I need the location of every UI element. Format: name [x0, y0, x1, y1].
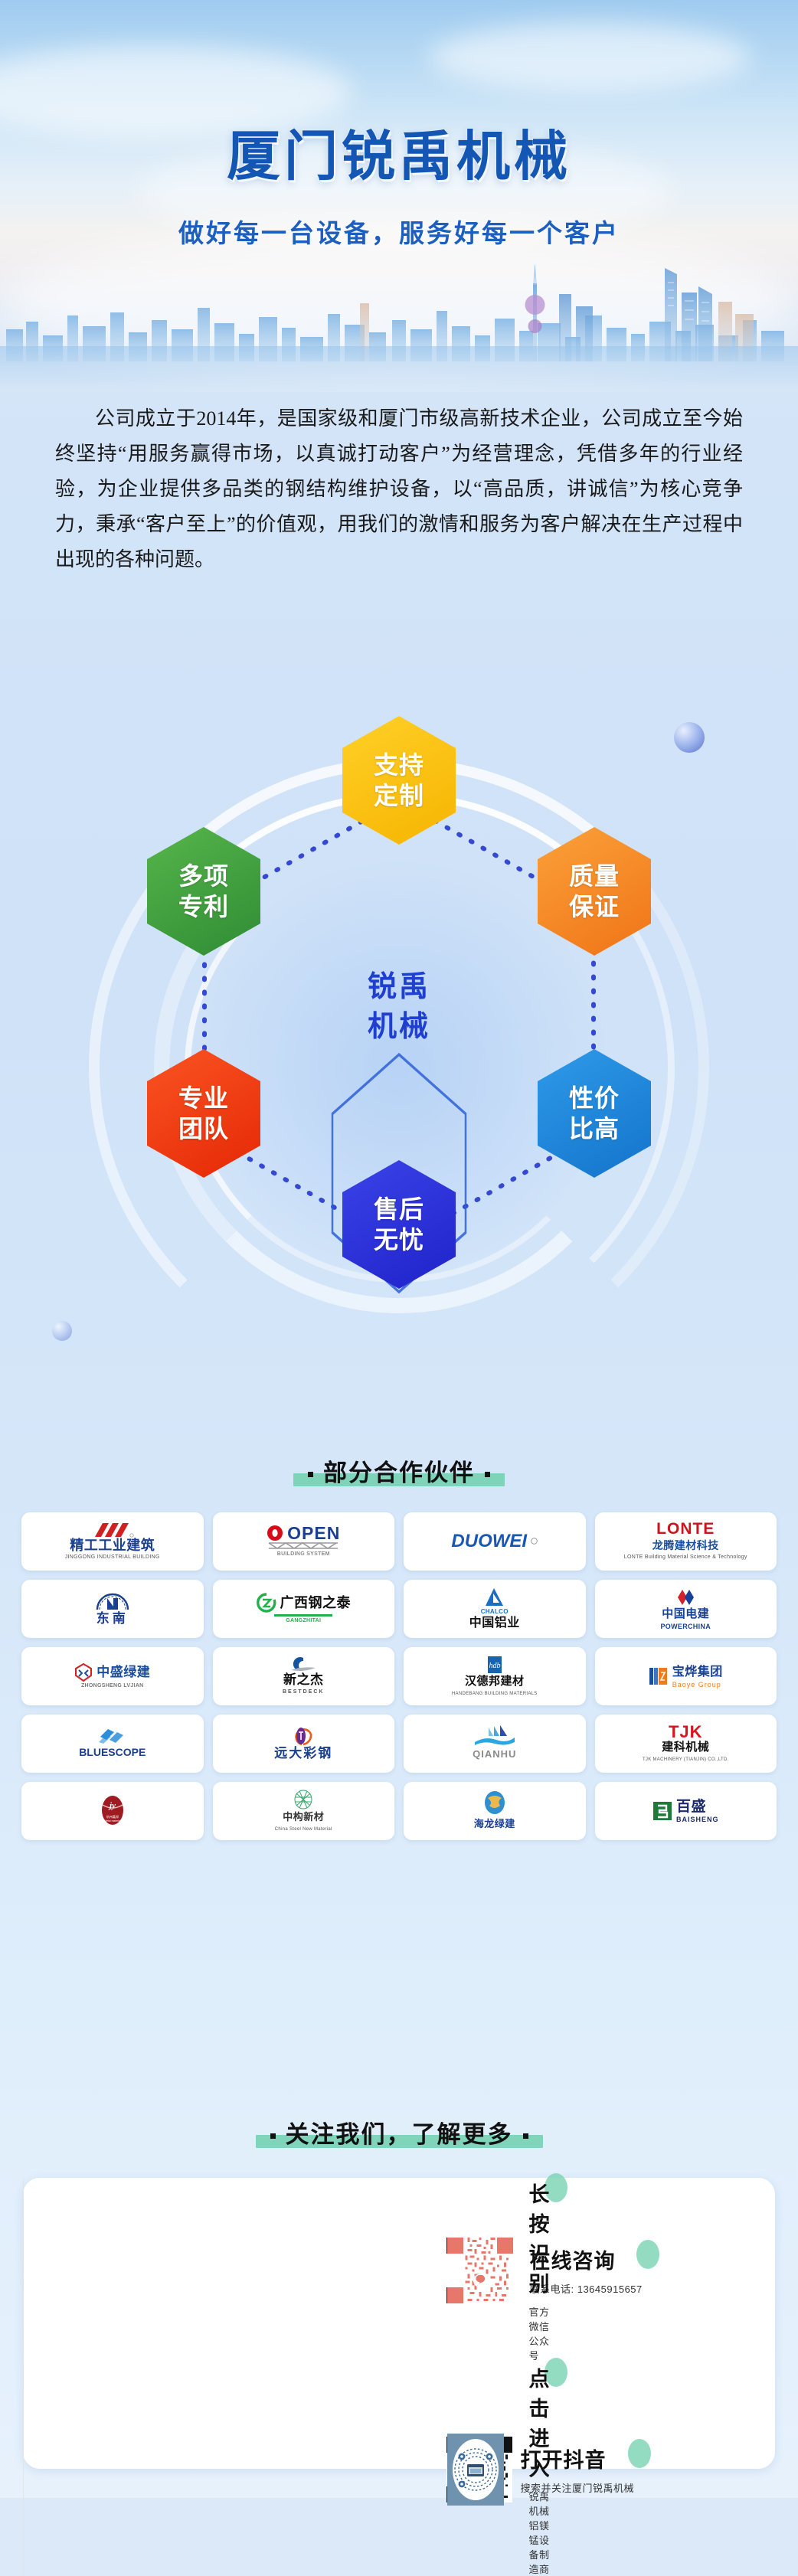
hero-banner: 厦门锐禹机械 做好每一台设备，服务好每一个客户: [0, 0, 798, 392]
partner-logo-name: 百盛: [676, 1800, 719, 1815]
qr-red-icon: [447, 2238, 513, 2303]
hex-node-bottom-right-line1: 性价: [569, 1083, 620, 1113]
partner-logo-cn: 龙腾建材科技: [652, 1538, 719, 1553]
waterfront: [0, 346, 798, 392]
bubble-decoration: [52, 1321, 72, 1341]
partner-logo-card[interactable]: BLUESCOPE: [21, 1715, 204, 1773]
partner-logo-name: LONTE: [656, 1522, 715, 1537]
qr-card-desc: 搜索并关注厦门锐禹机械: [521, 2480, 635, 2495]
heading-dot-right-icon: [485, 1472, 490, 1477]
hexagon-center-line2: 机械: [368, 1007, 430, 1047]
partner-logo-sub: ZHONGSHENG LVJIAN: [81, 1682, 144, 1690]
open-truss-icon: [268, 1541, 338, 1550]
partner-logo-name: 中国铝业: [469, 1616, 520, 1631]
qr-card-douyin[interactable]: 打开抖音 搜索并关注厦门锐禹机械: [400, 2362, 776, 2576]
hexagon-center-label: 锐禹 机械: [322, 938, 476, 1076]
partner-logo-name: 中国电建: [662, 1607, 709, 1622]
hex-node-bottom-right-line2: 比高: [569, 1113, 620, 1144]
partner-logo-name: 海龙绿建: [474, 1816, 515, 1832]
partner-logo-card[interactable]: 百盛 BAISHENG: [595, 1782, 777, 1840]
partner-logo-name: 中构新材: [283, 1809, 324, 1825]
partner-logo-card[interactable]: TJK 建科机械 TJK MACHINERY (TIANJIN) CO.,LTD…: [595, 1715, 777, 1773]
qr-code-image[interactable]: [447, 2238, 513, 2303]
partner-logo-card[interactable]: 远大彩钢: [213, 1715, 395, 1773]
partner-logo-name: 建科机械: [662, 1740, 709, 1755]
svg-text:jy: jy: [108, 1801, 116, 1810]
partner-logo-card[interactable]: 精工工业建筑 JINGGONG INDUSTRIAL BUILDING: [21, 1512, 204, 1571]
partner-logo-name: 广西钢之泰: [280, 1595, 352, 1610]
partner-logo-card[interactable]: 广西钢之泰 GANGZHITAI: [213, 1580, 395, 1638]
registered-mark-icon: [531, 1538, 538, 1545]
vertical-divider: [23, 2178, 24, 2576]
hdb-block-icon: hdb: [487, 1656, 502, 1674]
partner-logo-card[interactable]: hdb 汉德邦建材 HANDEBANG BUILDING MATERIALS: [404, 1647, 586, 1705]
green-underline: [274, 1614, 332, 1617]
partner-logo-name: QIANHU: [473, 1747, 516, 1762]
partner-logo-name: 新之杰: [283, 1672, 324, 1688]
hex-node-top-right-line2: 保证: [569, 891, 620, 922]
partners-section-heading: 部分合作伙伴: [0, 1453, 798, 1488]
partner-logo-name: OPEN: [287, 1525, 340, 1541]
qr-card-title: 在线咨询: [530, 2244, 643, 2274]
partner-logo-name: BLUESCOPE: [79, 1744, 146, 1760]
partner-logo-sub: JINGGONG INDUSTRIAL BUILDING: [65, 1554, 160, 1561]
city-skyline-illustration: [0, 247, 798, 392]
shield-zs-icon: [74, 1663, 93, 1682]
partner-logo-card[interactable]: 新之杰 BESTDECK: [213, 1647, 395, 1705]
partner-logo-sub: POWERCHINA: [661, 1623, 711, 1630]
red-shield-icon: jy 杭州嘉邦 Metal material: [100, 1795, 125, 1827]
qianhu-sail-icon: [473, 1725, 516, 1747]
yuanda-loop-icon: [293, 1726, 314, 1746]
qr-card-desc: 锐禹机械铝镁锰设备制造商: [529, 2489, 551, 2576]
partner-logo-card[interactable]: LONTE 龙腾建材科技 LONTE Building Material Sci…: [595, 1512, 777, 1571]
partner-logo-sub: China Steel New Material: [275, 1826, 332, 1833]
hexagon-center-line1: 锐禹: [368, 967, 430, 1007]
follow-heading-text: 关注我们，了解更多: [286, 2121, 513, 2148]
bridge-arch-icon: [95, 1591, 130, 1611]
qr-card-title: 打开抖音: [521, 2444, 635, 2473]
partner-logo-card[interactable]: OPEN BUILDING SYSTEM: [213, 1512, 395, 1571]
hex-node-bottom-line2: 无忧: [374, 1224, 424, 1255]
company-description: 公司成立于2014年，是国家级和厦门市级高新技术企业，公司成立至今始终坚持“用服…: [0, 401, 798, 577]
page-title: 厦门锐禹机械: [0, 113, 798, 191]
heading-dot-left-icon: [308, 1472, 313, 1477]
qr-card-online-consult[interactable]: 在线咨询 联系电话: 13645915657: [400, 2178, 776, 2362]
partner-logo-name: 东南: [96, 1611, 129, 1626]
partner-logo-sub: BUILDING SYSTEM: [277, 1551, 330, 1558]
partner-logo-name: 精工工业建筑: [70, 1538, 155, 1553]
svg-text:hdb: hdb: [489, 1662, 500, 1670]
cloud-decoration: [429, 23, 751, 92]
partner-logo-card[interactable]: 宝烨集团 Baoye Group: [595, 1647, 777, 1705]
partner-logo-name: 中盛绿建: [96, 1665, 150, 1680]
svg-text:Metal material: Metal material: [104, 1819, 121, 1822]
svg-text:杭州嘉邦: 杭州嘉邦: [106, 1814, 119, 1819]
qr-douyin-icon: [447, 2434, 504, 2506]
partner-logo-name: 宝烨集团: [672, 1665, 723, 1680]
advantages-hexagon-diagram: 支持 定制 质量 保证 性价 比高 售后 无忧 专业 团队 多项 专利 锐禹 机…: [0, 708, 798, 1428]
partner-logo-sub: BESTDECK: [283, 1688, 325, 1696]
hex-node-bottom-line1: 售后: [374, 1194, 424, 1224]
partner-logo-sub: LONTE Building Material Science & Techno…: [624, 1554, 747, 1561]
baoye-bars-icon: [649, 1666, 669, 1686]
hex-node-top-line2: 定制: [374, 780, 424, 811]
partner-logo-card[interactable]: 中盛绿建 ZHONGSHENG LVJIAN: [21, 1647, 204, 1705]
partner-logo-card[interactable]: 中构新材 China Steel New Material: [213, 1782, 395, 1840]
hex-node-top-line1: 支持: [374, 750, 424, 780]
partner-logo-name: 汉德邦建材: [465, 1674, 525, 1689]
partner-logo-mark-text: TJK: [669, 1724, 703, 1740]
mesh-egg-icon: [292, 1790, 315, 1809]
partner-logo-sub: HANDEBANG BUILDING MATERIALS: [452, 1690, 538, 1698]
partner-logo-card[interactable]: QIANHU: [404, 1715, 586, 1773]
follow-qr-panel: RY 长按识别 官方微信公众号: [23, 2178, 775, 2469]
page-root: 厦门锐禹机械 做好每一台设备，服务好每一个客户 公司成立于2014年，是国家级和…: [0, 0, 798, 2498]
partner-logo-card[interactable]: jy 杭州嘉邦 Metal material: [21, 1782, 204, 1840]
page-subtitle: 做好每一台设备，服务好每一个客户: [0, 213, 798, 250]
partner-logo-grid: 精工工业建筑 JINGGONG INDUSTRIAL BUILDING OPEN…: [21, 1512, 777, 1840]
partner-logo-name: DUOWEI: [451, 1534, 527, 1549]
partners-heading-text: 部分合作伙伴: [323, 1460, 475, 1486]
power-diamond-icon: [675, 1588, 696, 1607]
partner-logo-card[interactable]: CHALCO 中国铝业: [404, 1580, 586, 1638]
partner-logo-sub: TJK MACHINERY (TIANJIN) CO.,LTD.: [643, 1756, 729, 1764]
hex-node-top-left-line1: 多项: [178, 861, 229, 891]
green-circle-icon: [257, 1593, 276, 1613]
qr-card-title: 长按识别: [529, 2178, 551, 2297]
hex-node-bottom-left-line2: 团队: [178, 1113, 229, 1144]
slash-bars-icon: [90, 1522, 135, 1538]
partner-logo-sub: CHALCO: [481, 1608, 509, 1616]
follow-section-heading: 关注我们，了解更多: [0, 2115, 798, 2149]
chalco-triangle-icon: [484, 1587, 505, 1607]
blue-swoosh-icon: [289, 1657, 317, 1672]
bluescope-wave-icon: [97, 1728, 128, 1744]
company-description-text: 公司成立于2014年，是国家级和厦门市级高新技术企业，公司成立至今始终坚持“用服…: [55, 401, 743, 577]
hex-node-bottom-left-line1: 专业: [178, 1083, 229, 1113]
bubble-decoration: [674, 722, 705, 753]
dragon-oval-icon: [483, 1790, 506, 1816]
heading-dot-right-icon: [523, 2133, 528, 2139]
hex-node-top-right-line1: 质量: [569, 861, 620, 891]
partner-logo-card[interactable]: DUOWEI: [404, 1512, 586, 1571]
partner-logo-sub: BAISHENG: [676, 1816, 719, 1823]
partner-logo-sub: GANGZHITAI: [286, 1617, 321, 1625]
qr-card-desc: 官方微信公众号: [529, 2304, 551, 2362]
partner-logo-card[interactable]: 海龙绿建: [404, 1782, 586, 1840]
qr-code-image[interactable]: [447, 2434, 504, 2506]
partner-logo-sub: Baoye Group: [672, 1681, 723, 1688]
open-o-icon: [267, 1525, 283, 1541]
heading-dot-left-icon: [270, 2133, 276, 2139]
green-b-icon: [652, 1801, 672, 1821]
partner-logo-card[interactable]: 中国电建 POWERCHINA: [595, 1580, 777, 1638]
partner-logo-name: 远大彩钢: [274, 1746, 332, 1761]
hex-node-top-left-line2: 专利: [178, 891, 229, 922]
partner-logo-card[interactable]: 东南: [21, 1580, 204, 1638]
